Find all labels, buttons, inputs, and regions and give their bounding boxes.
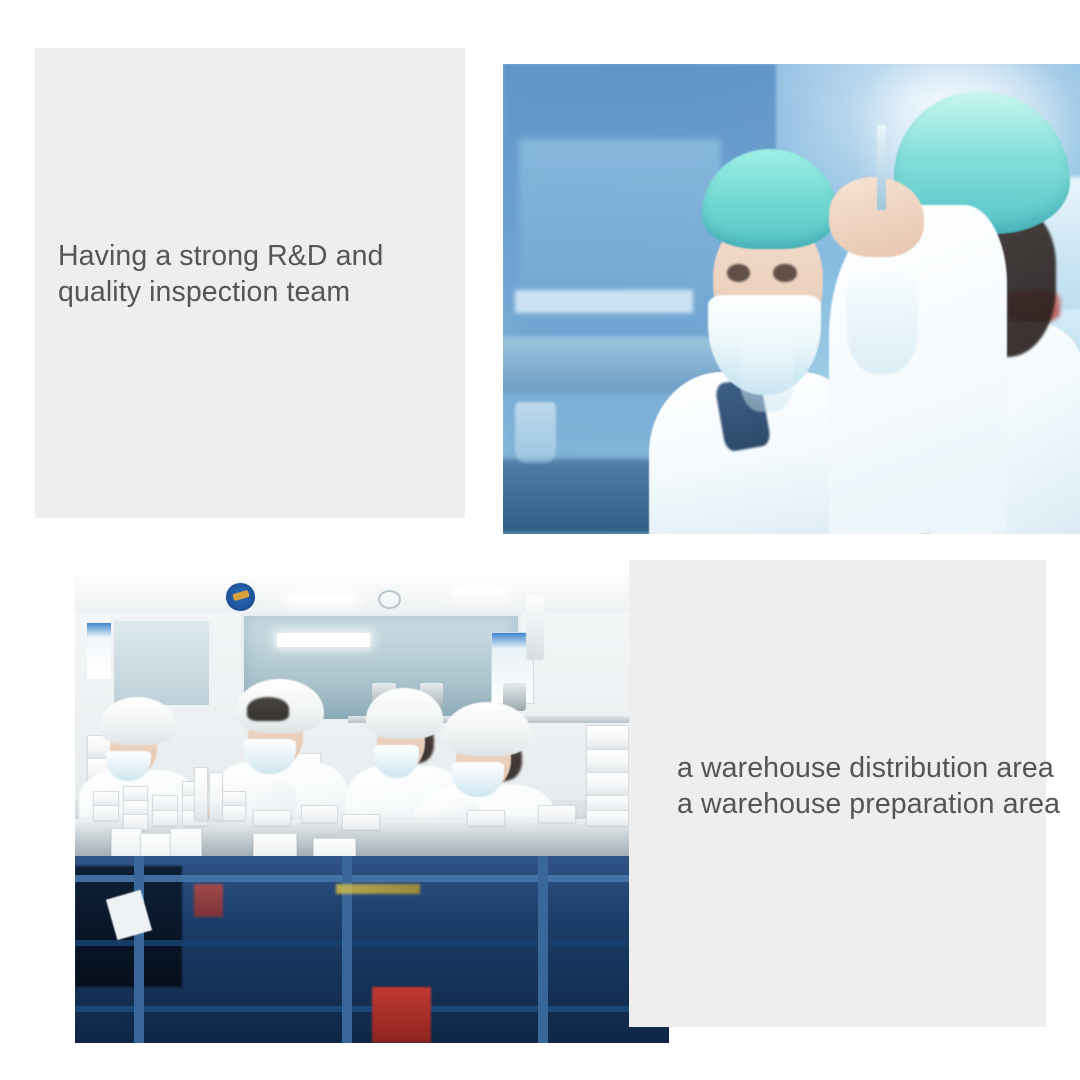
carton (253, 810, 291, 826)
frame-rail (75, 940, 669, 946)
carton (342, 814, 380, 830)
wall-notice-board-small (87, 623, 111, 679)
worker-dark-cap (247, 697, 289, 720)
caption-line-2: quality inspection team (58, 274, 458, 310)
rd-quality-caption: Having a strong R&D and quality inspecti… (58, 238, 458, 311)
wall-clock (378, 590, 401, 609)
table-leg (134, 856, 144, 1043)
table-leg (538, 856, 548, 1043)
lab-flask-main (847, 271, 918, 374)
lab-flask-secondary (740, 337, 793, 412)
lab-hairnet-front (702, 149, 837, 249)
packing-scene (75, 576, 669, 1043)
interior-window-small (111, 618, 212, 708)
carton (152, 810, 178, 826)
warehouse-text-panel: a warehouse distribution area a warehous… (629, 560, 1046, 1027)
carton (586, 725, 630, 750)
lab-rack (515, 290, 693, 314)
cleanroom-ceiling (75, 576, 669, 613)
lab-rd-quality-inspection-photo (503, 64, 1080, 534)
worker-hairnet (443, 702, 532, 756)
red-crate (372, 987, 431, 1043)
caption-line-1: a warehouse distribution area (677, 750, 1080, 786)
caption-line-2: a warehouse preparation area (677, 786, 1080, 822)
rd-quality-block: Having a strong R&D and quality inspecti… (35, 48, 1056, 518)
rd-quality-text-panel: Having a strong R&D and quality inspecti… (35, 48, 465, 518)
carton (586, 749, 630, 774)
carton (586, 810, 630, 826)
frame-rail (75, 875, 669, 882)
blue-circular-sign (224, 581, 258, 613)
warehouse-block: a warehouse distribution area a warehous… (35, 560, 1046, 1027)
ceiling-light-2 (455, 587, 503, 594)
page-root: Having a strong R&D and quality inspecti… (0, 0, 1080, 1080)
lab-scene (503, 64, 1080, 534)
caption-line-1: Having a strong R&D and (58, 238, 458, 274)
red-item (194, 884, 224, 917)
lab-pipette (877, 125, 886, 210)
worker-hairnet (366, 688, 443, 739)
lab-beaker-left (515, 402, 557, 463)
warehouse-packing-photo (75, 576, 669, 1043)
lab-eye-right (773, 264, 796, 281)
warehouse-caption: a warehouse distribution area a warehous… (677, 750, 1080, 823)
worker-hairnet (99, 697, 176, 745)
white-bottle (209, 772, 223, 821)
carton (538, 805, 576, 823)
ceiling-light-1 (289, 595, 354, 602)
yellow-floor-tape (336, 884, 419, 894)
carton (301, 805, 339, 823)
carton (586, 772, 630, 797)
carton (93, 805, 119, 821)
ceiling-duct (526, 595, 544, 660)
carton (467, 810, 505, 826)
white-bottle (194, 767, 208, 820)
lab-eye-left (727, 264, 750, 281)
